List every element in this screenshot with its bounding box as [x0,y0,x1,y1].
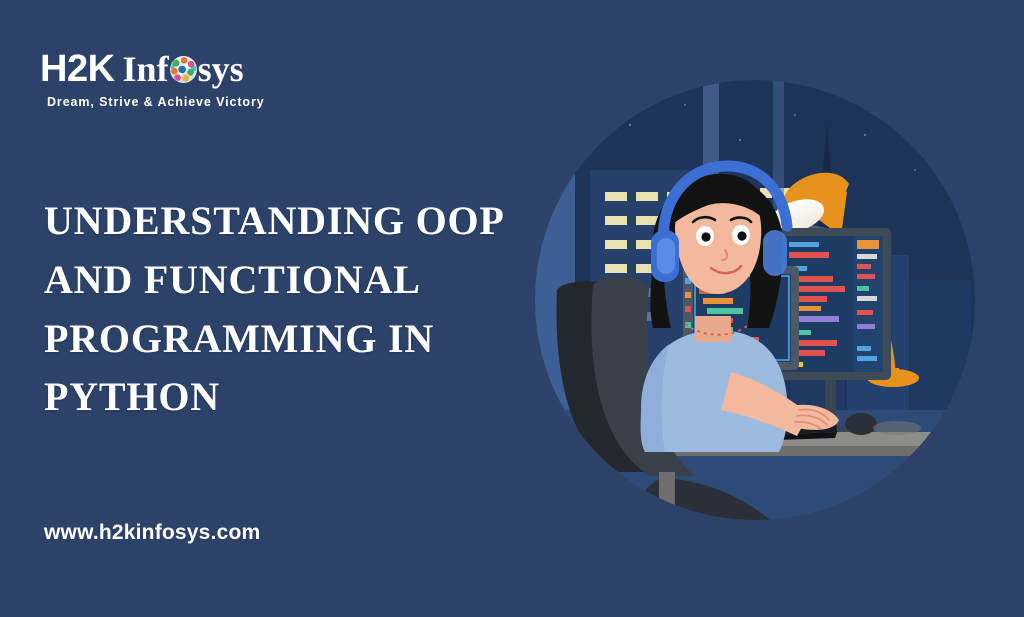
logo-text-inf: Inf [123,51,169,87]
logo-text-sys: sys [198,51,244,87]
promotional-banner: H2K Inf sys Dream, Strive & Achieve Vict… [0,0,1024,617]
logo-tagline: Dream, Strive & Achieve Victory [47,95,340,109]
woman-coding-at-night-illustration [535,80,975,520]
mouse [845,413,877,435]
globe-icon [170,56,197,83]
logo-text-h2k: H2K [40,50,115,88]
logo-wordmark: H2K Inf sys [40,50,340,88]
website-url[interactable]: www.h2kinfosys.com [44,521,260,545]
brand-logo[interactable]: H2K Inf sys Dream, Strive & Achieve Vict… [40,50,340,109]
page-title: Understanding OOP and Functional Program… [44,192,514,427]
